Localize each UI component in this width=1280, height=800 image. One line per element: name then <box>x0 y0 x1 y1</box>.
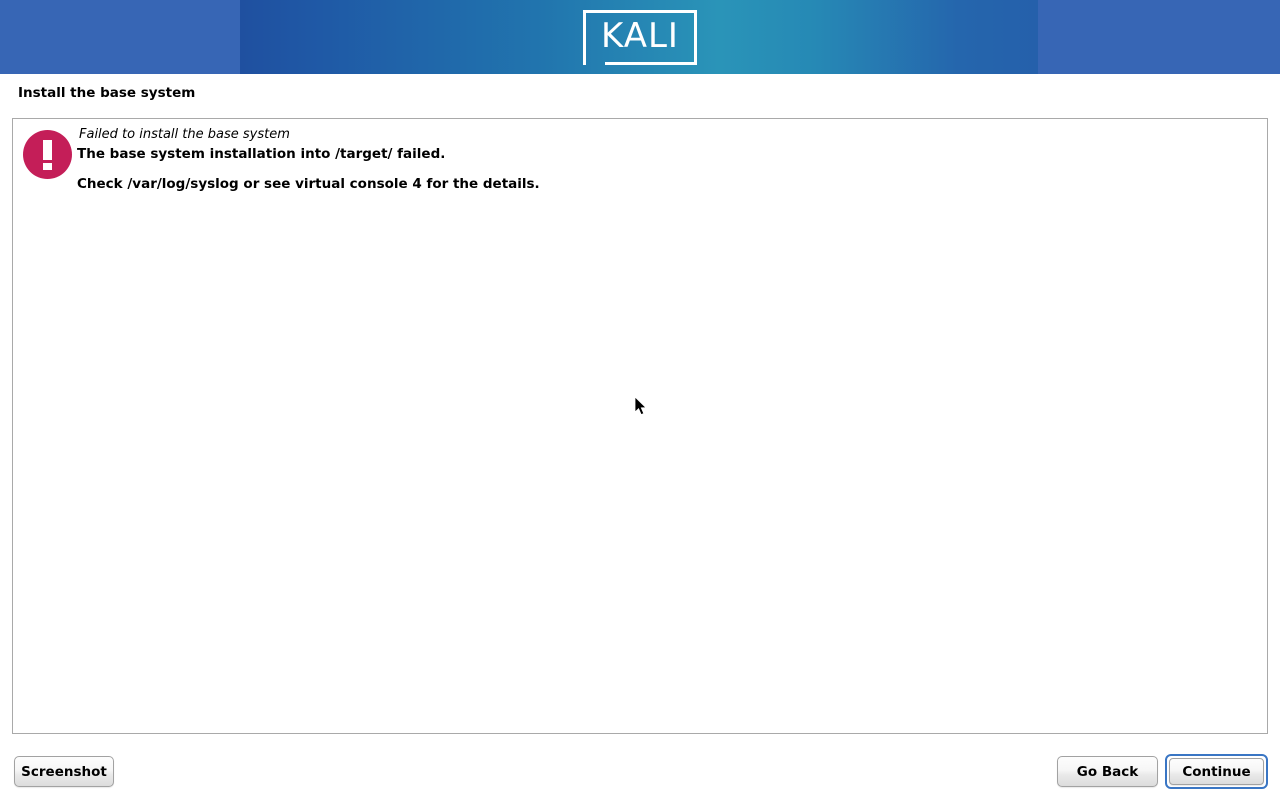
error-heading: Failed to install the base system <box>79 127 290 142</box>
error-message-line-1: The base system installation into /targe… <box>77 146 445 162</box>
screenshot-button[interactable]: Screenshot <box>14 756 114 787</box>
kali-logo-text: KALI <box>583 10 697 65</box>
kali-logo: KALI <box>583 10 697 65</box>
installer-banner: KALI <box>0 0 1280 74</box>
error-message-line-2: Check /var/log/syslog or see virtual con… <box>77 176 540 192</box>
exclamation-dot <box>43 163 52 170</box>
content-frame: Failed to install the base system The ba… <box>12 118 1268 734</box>
continue-button[interactable]: Continue <box>1169 758 1264 785</box>
page-title: Install the base system <box>18 85 195 101</box>
exclamation-stem <box>43 140 52 160</box>
error-exclamation-icon <box>23 130 72 179</box>
go-back-button[interactable]: Go Back <box>1057 756 1158 787</box>
continue-button-focus-ring[interactable]: Continue <box>1165 754 1268 789</box>
